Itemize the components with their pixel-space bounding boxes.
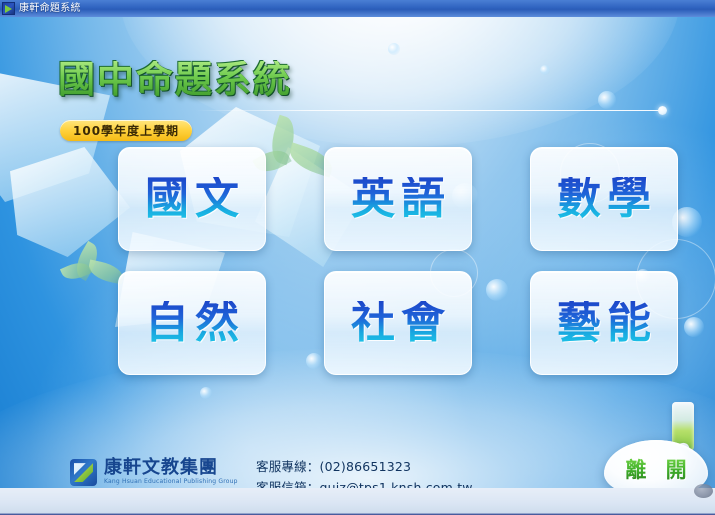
company-logo-icon <box>70 459 97 486</box>
subject-button-science[interactable]: 自然 <box>118 271 266 375</box>
main-stage: 國中命題系統 100學年度上學期 國文 英語 數學 自然 社會 <box>0 17 715 488</box>
company-logo: 康軒文教集團 Kang Hsuan Educational Publishing… <box>70 459 238 486</box>
subject-button-arts[interactable]: 藝能 <box>530 271 678 375</box>
app-icon <box>2 2 15 15</box>
window-titlebar: 康軒命題系統 <box>0 0 715 17</box>
company-logo-text: 康軒文教集團 Kang Hsuan Educational Publishing… <box>104 459 238 486</box>
term-badge: 100學年度上學期 <box>60 120 192 141</box>
status-bar <box>0 488 715 515</box>
header-divider <box>196 110 662 111</box>
subject-label: 社會 <box>345 301 451 345</box>
subject-row: 自然 社會 藝能 <box>118 271 698 375</box>
company-name-en: Kang Hsuan Educational Publishing Group <box>104 478 238 486</box>
service-phone: 客服專線：(02)86651323 <box>256 457 473 478</box>
page-title: 國中命題系統 <box>58 61 292 98</box>
subject-label: 藝能 <box>551 301 657 345</box>
subject-button-math[interactable]: 數學 <box>530 147 678 251</box>
window-title: 康軒命題系統 <box>19 2 81 15</box>
subject-button-social-studies[interactable]: 社會 <box>324 271 472 375</box>
subject-label: 國文 <box>139 177 245 221</box>
subject-label: 數學 <box>551 177 657 221</box>
exit-button-label: 離 開 <box>619 454 692 484</box>
application-window: 康軒命題系統 國中命題系統 <box>0 0 715 515</box>
contact-info: 客服專線：(02)86651323 客服信箱：quiz@tps1.knsh.co… <box>256 457 473 488</box>
subject-button-chinese[interactable]: 國文 <box>118 147 266 251</box>
subject-button-english[interactable]: 英語 <box>324 147 472 251</box>
subject-label: 英語 <box>345 177 451 221</box>
subject-label: 自然 <box>139 301 245 345</box>
header-divider-dot-icon <box>658 106 667 115</box>
subject-grid: 國文 英語 數學 自然 社會 藝能 <box>118 147 698 395</box>
company-name-cn: 康軒文教集團 <box>104 459 238 478</box>
service-email: 客服信箱：quiz@tps1.knsh.com.tw <box>256 478 473 488</box>
subject-row: 國文 英語 數學 <box>118 147 698 251</box>
resize-grip-icon[interactable] <box>694 484 713 498</box>
